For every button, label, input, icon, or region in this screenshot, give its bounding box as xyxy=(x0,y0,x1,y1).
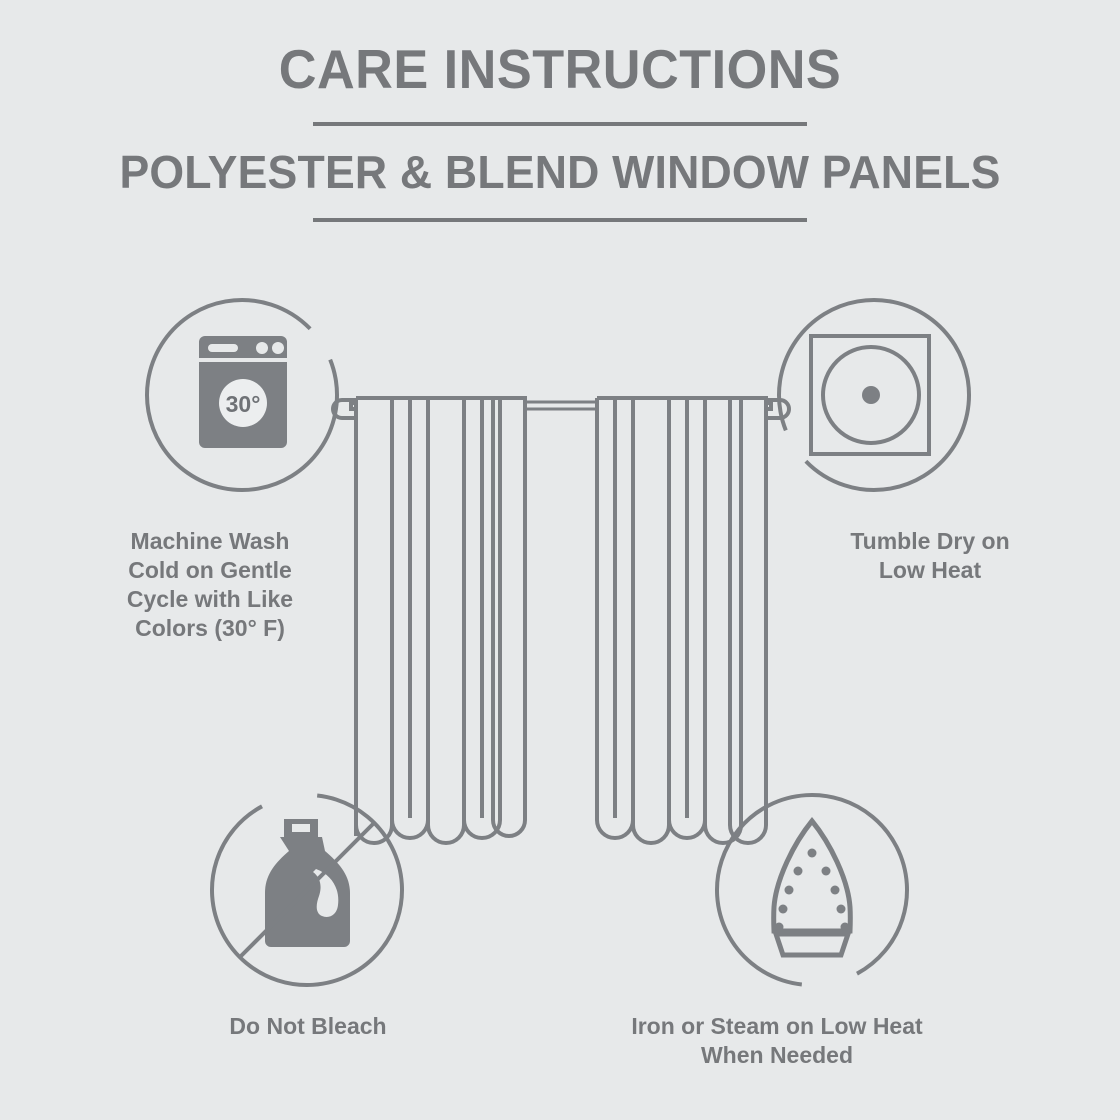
iron-badge xyxy=(713,791,911,989)
caption-iron: Iron or Steam on Low Heat When Needed xyxy=(578,1012,976,1070)
caption-tumble-dry: Tumble Dry on Low Heat xyxy=(780,527,1080,585)
bleach-bottle-icon xyxy=(265,819,350,947)
do-not-bleach-badge xyxy=(208,791,406,989)
caption-machine-wash: Machine Wash Cold on Gentle Cycle with L… xyxy=(62,527,358,643)
page-subtitle: POLYESTER & BLEND WINDOW PANELS xyxy=(17,126,1103,200)
tumble-dry-badge xyxy=(775,296,973,494)
dryer-heat-dot xyxy=(862,386,880,404)
wash-temperature-label: 30° xyxy=(226,391,261,417)
care-instructions-infographic: CARE INSTRUCTIONS POLYESTER & BLEND WIND… xyxy=(0,0,1120,1120)
subtitle-divider xyxy=(313,218,807,222)
machine-wash-badge: 30° xyxy=(143,296,341,494)
header: CARE INSTRUCTIONS POLYESTER & BLEND WIND… xyxy=(0,0,1120,222)
caption-do-not-bleach: Do Not Bleach xyxy=(112,1012,504,1041)
page-title: CARE INSTRUCTIONS xyxy=(28,0,1092,100)
